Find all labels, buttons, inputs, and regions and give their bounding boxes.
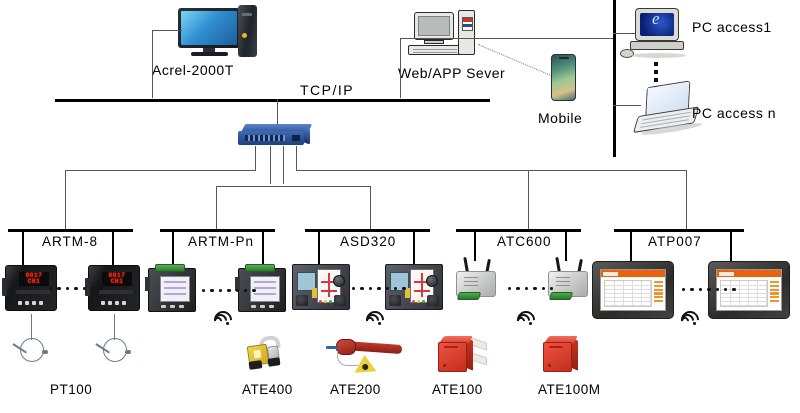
link-rail-artm8: [65, 170, 66, 230]
panel-meter-lcd-icon: [148, 268, 196, 312]
smartphone-icon: [551, 54, 576, 101]
group-drop-artmpn-a: [172, 229, 174, 265]
wifi-icon: [365, 311, 382, 325]
probe-sensor-icon: [326, 335, 404, 375]
group-drop-asd320-b: [413, 229, 415, 265]
group-label-artmpn: ARTM-Pn: [188, 234, 254, 249]
group-bar-artm8: [8, 229, 133, 232]
meter-reading-line2: CH1: [28, 279, 41, 285]
meter-reading-line2: CH1: [111, 279, 124, 285]
device-ellipsis-artm8: [49, 287, 103, 290]
group-label-asd320: ASD320: [340, 234, 396, 249]
group-bar-asd320: [305, 229, 430, 232]
ring-temperature-sensor-icon: [96, 330, 132, 364]
device-ellipsis-atc600: [508, 287, 553, 290]
node-label-pcaccessn: PC access n: [692, 105, 776, 121]
switch-downlink-2: [270, 146, 271, 184]
tower-icon: [238, 5, 257, 57]
link-rail-artmpn: [216, 186, 217, 230]
right-vertical-bus: [613, 0, 616, 157]
switch-downlink-1: [255, 146, 256, 170]
red-fork-sensor-icon: [438, 336, 476, 372]
group-bar-atp007: [614, 229, 744, 232]
sensor-label-pt100: PT100: [50, 382, 92, 397]
sensor-label-ate200: ATE200: [330, 382, 381, 397]
device-ellipsis-artmpn: [202, 289, 256, 292]
node-label-acrel2000t: Acrel-2000T: [152, 62, 234, 78]
link-acrel2000t-bus: [152, 30, 153, 98]
group-label-atc600: ATC600: [497, 234, 552, 249]
group-drop-atc600-a: [474, 229, 476, 261]
device-ellipsis-asd320: [352, 287, 406, 290]
device-ellipsis-atp007: [682, 288, 736, 291]
link-pcaccess1-bus: [613, 33, 635, 34]
link-rail-atp007: [686, 170, 687, 230]
wireless-gateway-icon: [548, 263, 588, 297]
group-drop-artm8-a: [22, 229, 24, 265]
switch-downlink-3: [283, 146, 284, 184]
sensor-label-ate400: ATE400: [242, 382, 293, 397]
link-webapp-elbow: [400, 38, 478, 39]
group-label-atp007: ATP007: [648, 234, 702, 249]
switchgear-display-icon: [292, 264, 350, 310]
sensor-label-ate100m: ATE100M: [538, 382, 601, 397]
network-topology-diagram: Acrel-2000T Web/APP Sever Mobile PC acce…: [0, 0, 800, 413]
link-webapp-rightbus: [478, 38, 614, 39]
distribution-rail-right: [296, 170, 686, 171]
link-pcaccessn-bus: [613, 105, 641, 106]
wifi-icon: [680, 311, 697, 325]
link-rail-asd320: [370, 186, 371, 230]
group-drop-artmpn-b: [262, 229, 264, 265]
clamp-sensor-icon: [246, 334, 288, 374]
hmi-touch-panel-icon: [592, 261, 674, 319]
link-rail-atc600: [528, 170, 529, 230]
monitor-icon: [178, 8, 240, 48]
group-drop-atp007-b: [730, 229, 732, 261]
wifi-icon: [213, 311, 230, 325]
link-webapp-bus: [400, 38, 401, 98]
distribution-rail-inner: [216, 186, 370, 187]
group-bar-artmpn: [160, 229, 275, 232]
wifi-icon: [516, 311, 533, 325]
group-drop-artm8-b: [112, 229, 114, 265]
bus-label-tcpip: TCP/IP: [300, 82, 354, 98]
node-label-mobile: Mobile: [538, 110, 582, 126]
ring-temperature-sensor-icon: [13, 330, 49, 364]
link-acrel2000t-elbow: [152, 30, 182, 31]
group-drop-asd320-a: [318, 229, 320, 265]
group-drop-atp007-a: [630, 229, 632, 261]
network-switch-icon: [238, 124, 310, 148]
switch-downlink-4: [296, 146, 297, 170]
node-label-webapp-server: Web/APP Sever: [398, 65, 505, 81]
group-label-artm8: ARTM-8: [42, 234, 98, 249]
sensor-label-ate100: ATE100: [432, 382, 483, 397]
group-drop-atc600-b: [565, 229, 567, 261]
link-bus-switch: [277, 99, 278, 125]
node-label-pcaccess1: PC access1: [692, 19, 772, 35]
tcpip-backbone-bus: [55, 99, 490, 102]
distribution-rail-left: [65, 170, 256, 171]
red-box-sensor-icon: [543, 336, 581, 372]
wireless-gateway-icon: [456, 263, 496, 297]
